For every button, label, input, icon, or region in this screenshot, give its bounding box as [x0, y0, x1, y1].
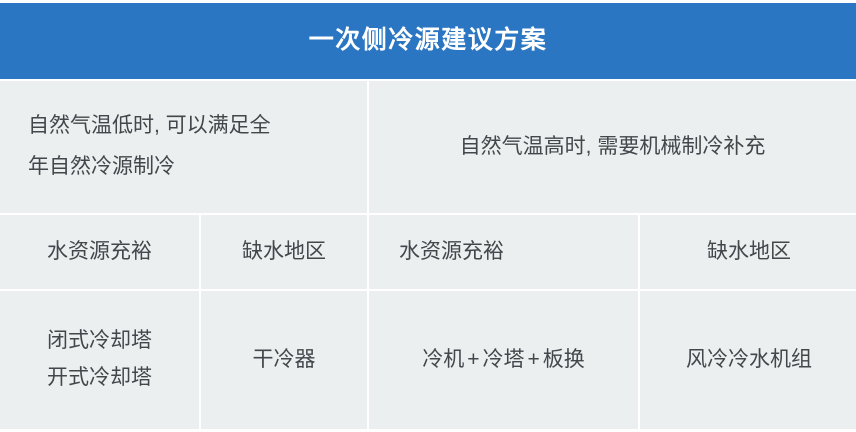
- table-row: 水资源充裕 缺水地区 水资源充裕 缺水地区: [0, 215, 856, 289]
- cell-text: 干冷器: [253, 341, 316, 380]
- cell-water-scarce-natural: 缺水地区: [201, 215, 367, 289]
- cell-low-temperature-condition: 自然气温低时, 可以满足全 年自然冷源制冷: [0, 81, 367, 213]
- cell-solution-air-cooled-chiller: 风冷冷水机组: [640, 291, 856, 429]
- table-header: 一次侧冷源建议方案: [0, 3, 856, 79]
- table-row: 闭式冷却塔 开式冷却塔 干冷器 冷机 + 冷塔 + 板换 风冷冷水机组: [0, 291, 856, 429]
- cell-water-abundant-natural: 水资源充裕: [0, 215, 199, 289]
- cell-text-wrapper: 闭式冷却塔 开式冷却塔: [47, 323, 152, 397]
- cell-text-part2: 冷塔: [483, 341, 525, 380]
- cell-text: 风冷冷水机组: [686, 341, 812, 380]
- cell-solution-dry-cooler: 干冷器: [201, 291, 367, 429]
- plus-operator-2: +: [525, 341, 543, 380]
- cell-text: 水资源充裕: [399, 233, 504, 272]
- table-title: 一次侧冷源建议方案: [309, 27, 548, 55]
- cell-text: 水资源充裕: [47, 233, 152, 272]
- table-row: 自然气温低时, 可以满足全 年自然冷源制冷 自然气温高时, 需要机械制冷补充: [0, 81, 856, 213]
- cell-text: 缺水地区: [707, 233, 791, 272]
- cell-text-part3: 板换: [543, 341, 585, 380]
- cell-text-line2: 年自然冷源制冷: [28, 155, 175, 178]
- cell-text-wrapper: 自然气温低时, 可以满足全 年自然冷源制冷: [28, 106, 271, 188]
- cell-water-scarce-mechanical: 缺水地区: [640, 215, 856, 289]
- cell-text: 自然气温高时, 需要机械制冷补充: [460, 128, 766, 167]
- table-grid: 一次侧冷源建议方案 自然气温低时, 可以满足全 年自然冷源制冷 自然气温高时, …: [0, 3, 856, 429]
- cell-water-abundant-mechanical: 水资源充裕: [369, 215, 638, 289]
- cooling-source-proposal-table: 一次侧冷源建议方案 自然气温低时, 可以满足全 年自然冷源制冷 自然气温高时, …: [0, 0, 856, 432]
- plus-operator-1: +: [464, 341, 482, 380]
- cell-text-line1: 自然气温低时, 可以满足全: [28, 114, 271, 137]
- cell-high-temperature-condition: 自然气温高时, 需要机械制冷补充: [369, 81, 856, 213]
- cell-text-part1: 冷机: [422, 341, 464, 380]
- cell-solution-cooling-towers: 闭式冷却塔 开式冷却塔: [0, 291, 199, 429]
- cell-text-line2: 开式冷却塔: [47, 360, 152, 397]
- cell-text-line1: 闭式冷却塔: [47, 323, 152, 360]
- cell-text: 缺水地区: [242, 233, 326, 272]
- cell-solution-chiller-tower-plate: 冷机 + 冷塔 + 板换: [369, 291, 638, 429]
